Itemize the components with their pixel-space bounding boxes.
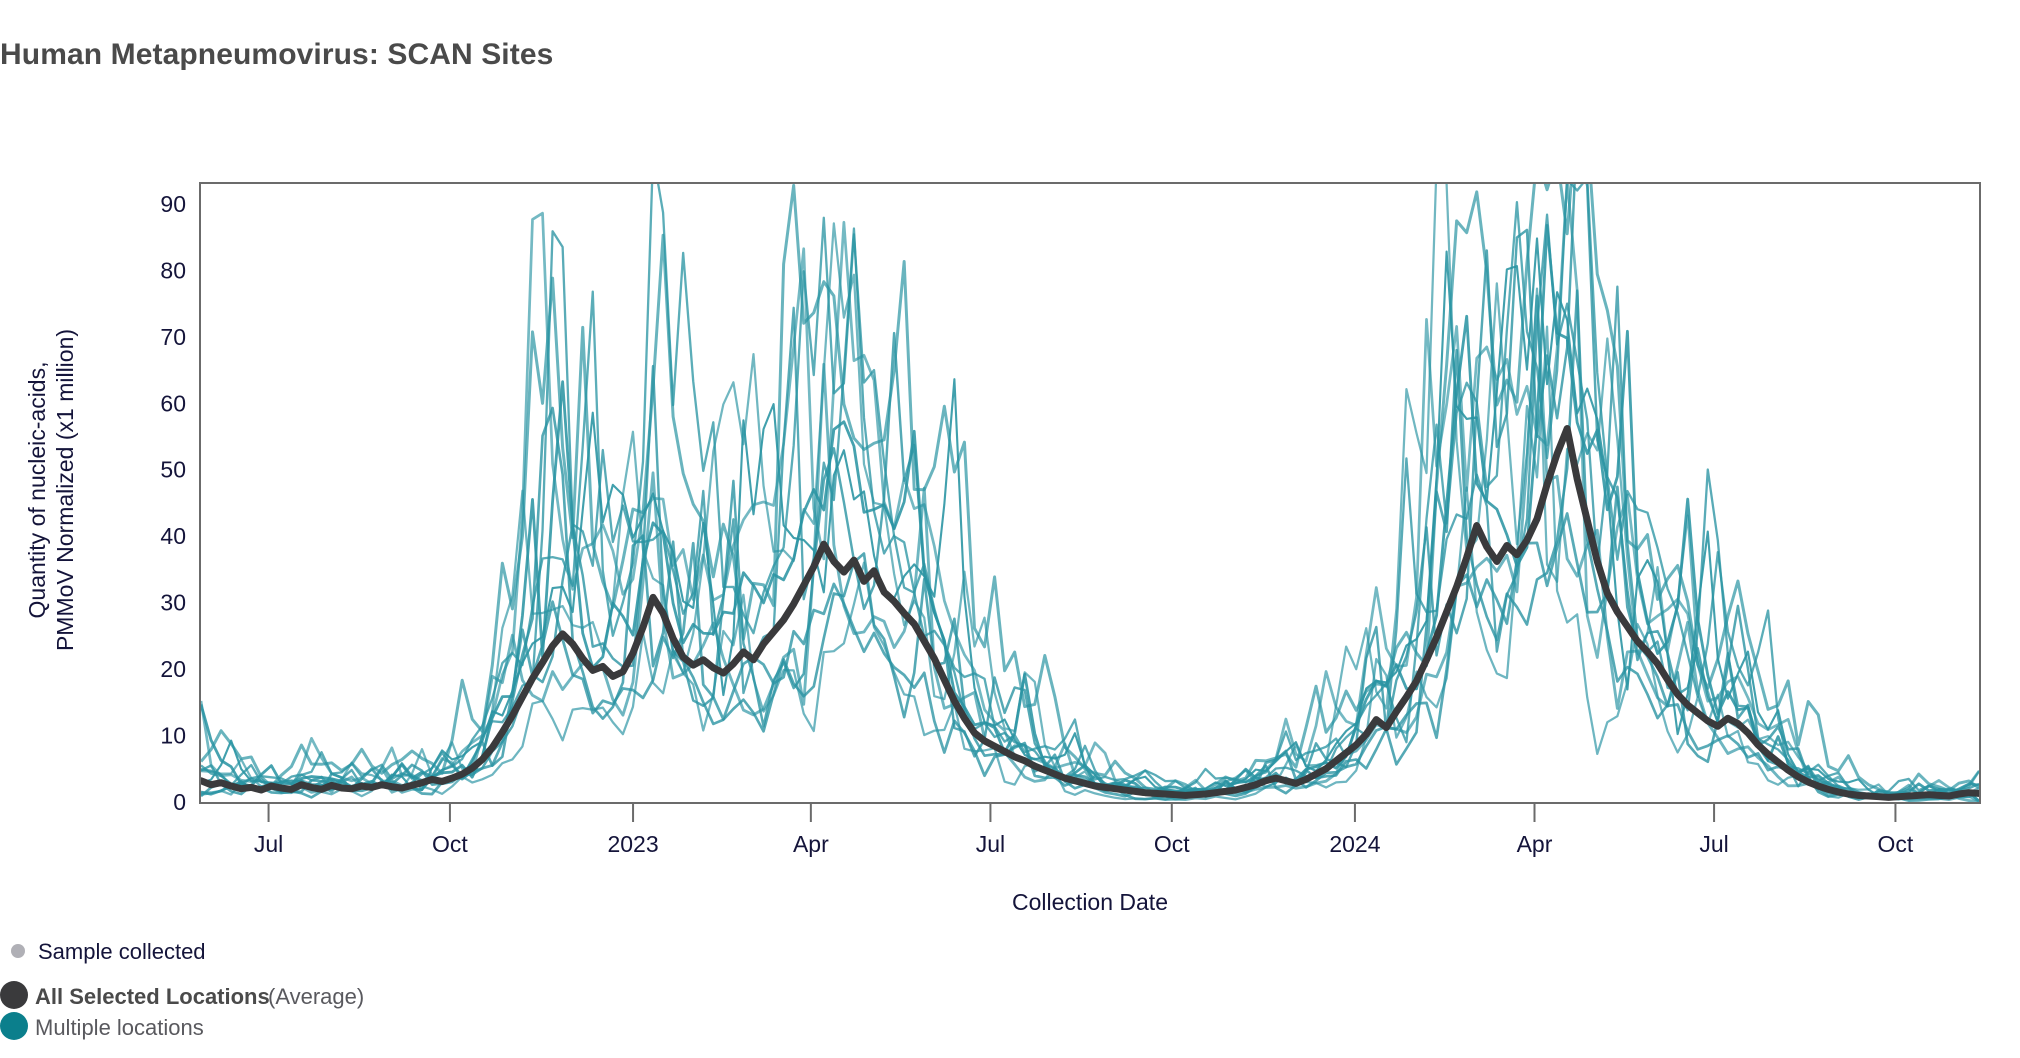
y-axis-title-line1: Quantity of nucleic-acids, xyxy=(24,362,50,619)
x-axis-title: Collection Date xyxy=(1012,889,1168,915)
x-tick-label: 2024 xyxy=(1329,831,1380,857)
chart-container: 0102030405060708090 JulOct2023AprJulOct2… xyxy=(0,0,2020,1058)
sample-dot-icon xyxy=(11,944,25,958)
y-tick-label: 20 xyxy=(160,656,186,682)
average-dot-icon[interactable] xyxy=(0,981,28,1009)
x-tick-label: Apr xyxy=(793,831,829,857)
legend-label-multiple-locations[interactable]: Multiple locations xyxy=(35,1015,204,1040)
y-tick-label: 30 xyxy=(160,590,186,616)
x-tick-label: Jul xyxy=(976,831,1005,857)
y-axis-tick-labels: 0102030405060708090 xyxy=(160,191,186,815)
x-tick-label: 2023 xyxy=(607,831,658,857)
x-tick-label: Oct xyxy=(1878,831,1914,857)
y-axis-title-line2: PMMoV Normalized (x1 million) xyxy=(52,329,78,651)
legend-label-average-suffix: (Average) xyxy=(268,984,364,1009)
chart-svg: 0102030405060708090 JulOct2023AprJulOct2… xyxy=(0,0,2020,1058)
legend: Sample collected All Selected Locations … xyxy=(0,939,364,1040)
x-tick-label: Apr xyxy=(1517,831,1553,857)
x-tick-label: Jul xyxy=(1699,831,1728,857)
x-tick-label: Oct xyxy=(432,831,468,857)
y-tick-label: 80 xyxy=(160,257,186,283)
x-tick-label: Jul xyxy=(254,831,283,857)
x-tick-label: Oct xyxy=(1154,831,1190,857)
y-axis-title: Quantity of nucleic-acids, PMMoV Normali… xyxy=(24,329,78,651)
y-tick-label: 40 xyxy=(160,523,186,549)
legend-label-all-selected-locations[interactable]: All Selected Locations xyxy=(35,984,270,1009)
y-tick-label: 10 xyxy=(160,723,186,749)
y-tick-label: 60 xyxy=(160,390,186,416)
x-axis-tick-labels: JulOct2023AprJulOct2024AprJulOct xyxy=(254,804,1914,857)
y-tick-label: 0 xyxy=(173,789,186,815)
legend-label-sample-collected: Sample collected xyxy=(38,939,206,964)
y-tick-label: 50 xyxy=(160,457,186,483)
sites-dot-icon[interactable] xyxy=(0,1012,28,1040)
y-tick-label: 90 xyxy=(160,191,186,217)
y-tick-label: 70 xyxy=(160,324,186,350)
